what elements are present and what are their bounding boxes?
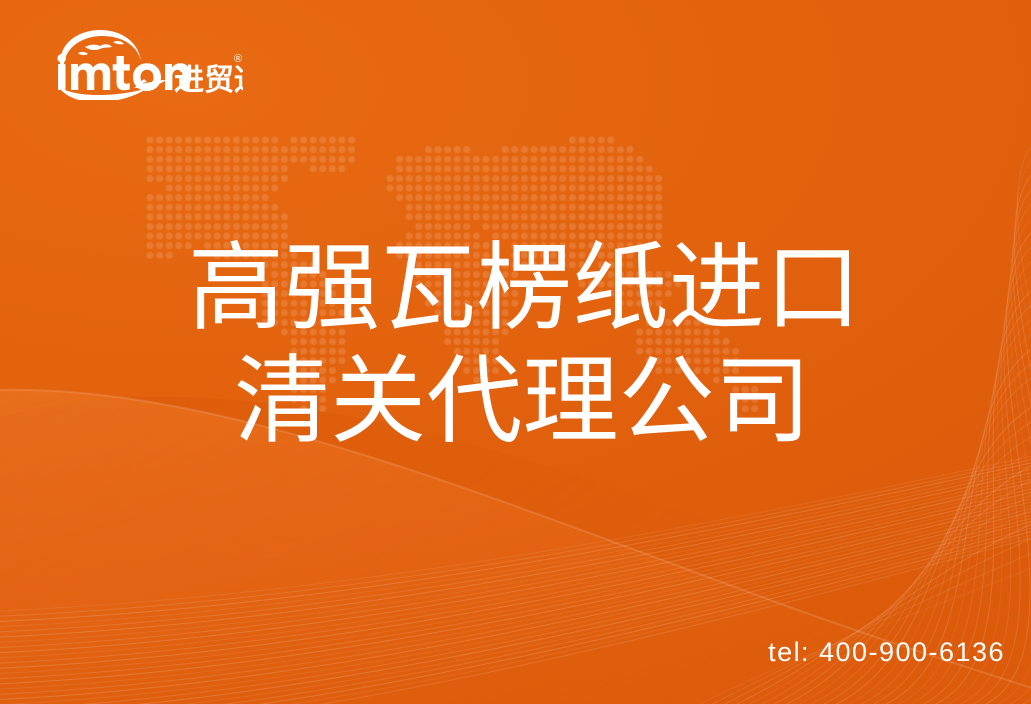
promo-banner: 进贸通 ® 高强瓦楞纸进口 清关代理公司 tel: 400-900-6136 bbox=[0, 0, 1031, 704]
imton-logo[interactable]: 进贸通 ® bbox=[38, 28, 243, 100]
headline: 高强瓦楞纸进口 清关代理公司 bbox=[0, 232, 1031, 459]
headline-line-1: 高强瓦楞纸进口 bbox=[0, 232, 1031, 345]
globe-arc-icon bbox=[60, 30, 141, 64]
contact-phone[interactable]: tel: 400-900-6136 bbox=[768, 637, 1005, 668]
logo-wordmark-latin bbox=[57, 54, 189, 91]
registered-mark: ® bbox=[234, 53, 242, 65]
headline-line-2: 清关代理公司 bbox=[0, 345, 1031, 458]
logo-wordmark-cn: 进贸通 bbox=[174, 63, 243, 98]
